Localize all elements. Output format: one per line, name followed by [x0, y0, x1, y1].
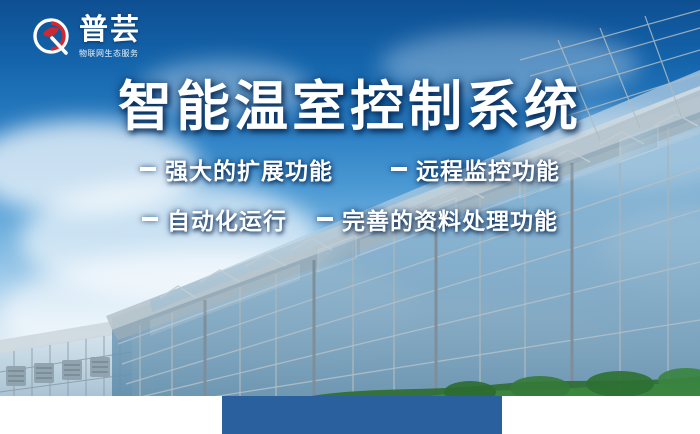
dash-icon: [142, 217, 158, 221]
feature-row-2: 自动化运行 完善的资料处理功能: [0, 202, 700, 236]
feature-label: 自动化运行: [167, 202, 287, 236]
feature-label: 完善的资料处理功能: [342, 202, 558, 236]
dash-icon: [317, 217, 333, 221]
dash-icon: [391, 167, 407, 171]
banner-image: 普芸 物联网生态服务 智能温室控制系统 强大的扩展功能 远程监控功能 自动化运行: [0, 0, 700, 434]
feature-row-1: 强大的扩展功能 远程监控功能: [0, 152, 700, 186]
feature-item: 自动化运行: [142, 202, 287, 236]
feature-item: 强大的扩展功能: [140, 152, 333, 186]
footer-strip: [0, 396, 700, 434]
logo-tagline: 物联网生态服务: [79, 48, 141, 59]
dash-icon: [140, 167, 156, 171]
page-title: 智能温室控制系统: [0, 62, 700, 141]
feature-item: 远程监控功能: [391, 152, 560, 186]
stylized-q-leaf-logo-icon: [30, 16, 72, 58]
feature-item: 完善的资料处理功能: [317, 202, 558, 236]
brand-logo: 普芸 物联网生态服务: [30, 10, 141, 64]
footer-blue-panel: [222, 396, 502, 434]
feature-label: 远程监控功能: [416, 152, 560, 186]
feature-list: 强大的扩展功能 远程监控功能 自动化运行 完善的资料处理功能: [0, 152, 700, 252]
feature-label: 强大的扩展功能: [165, 152, 333, 186]
logo-brand-name: 普芸: [79, 15, 141, 44]
